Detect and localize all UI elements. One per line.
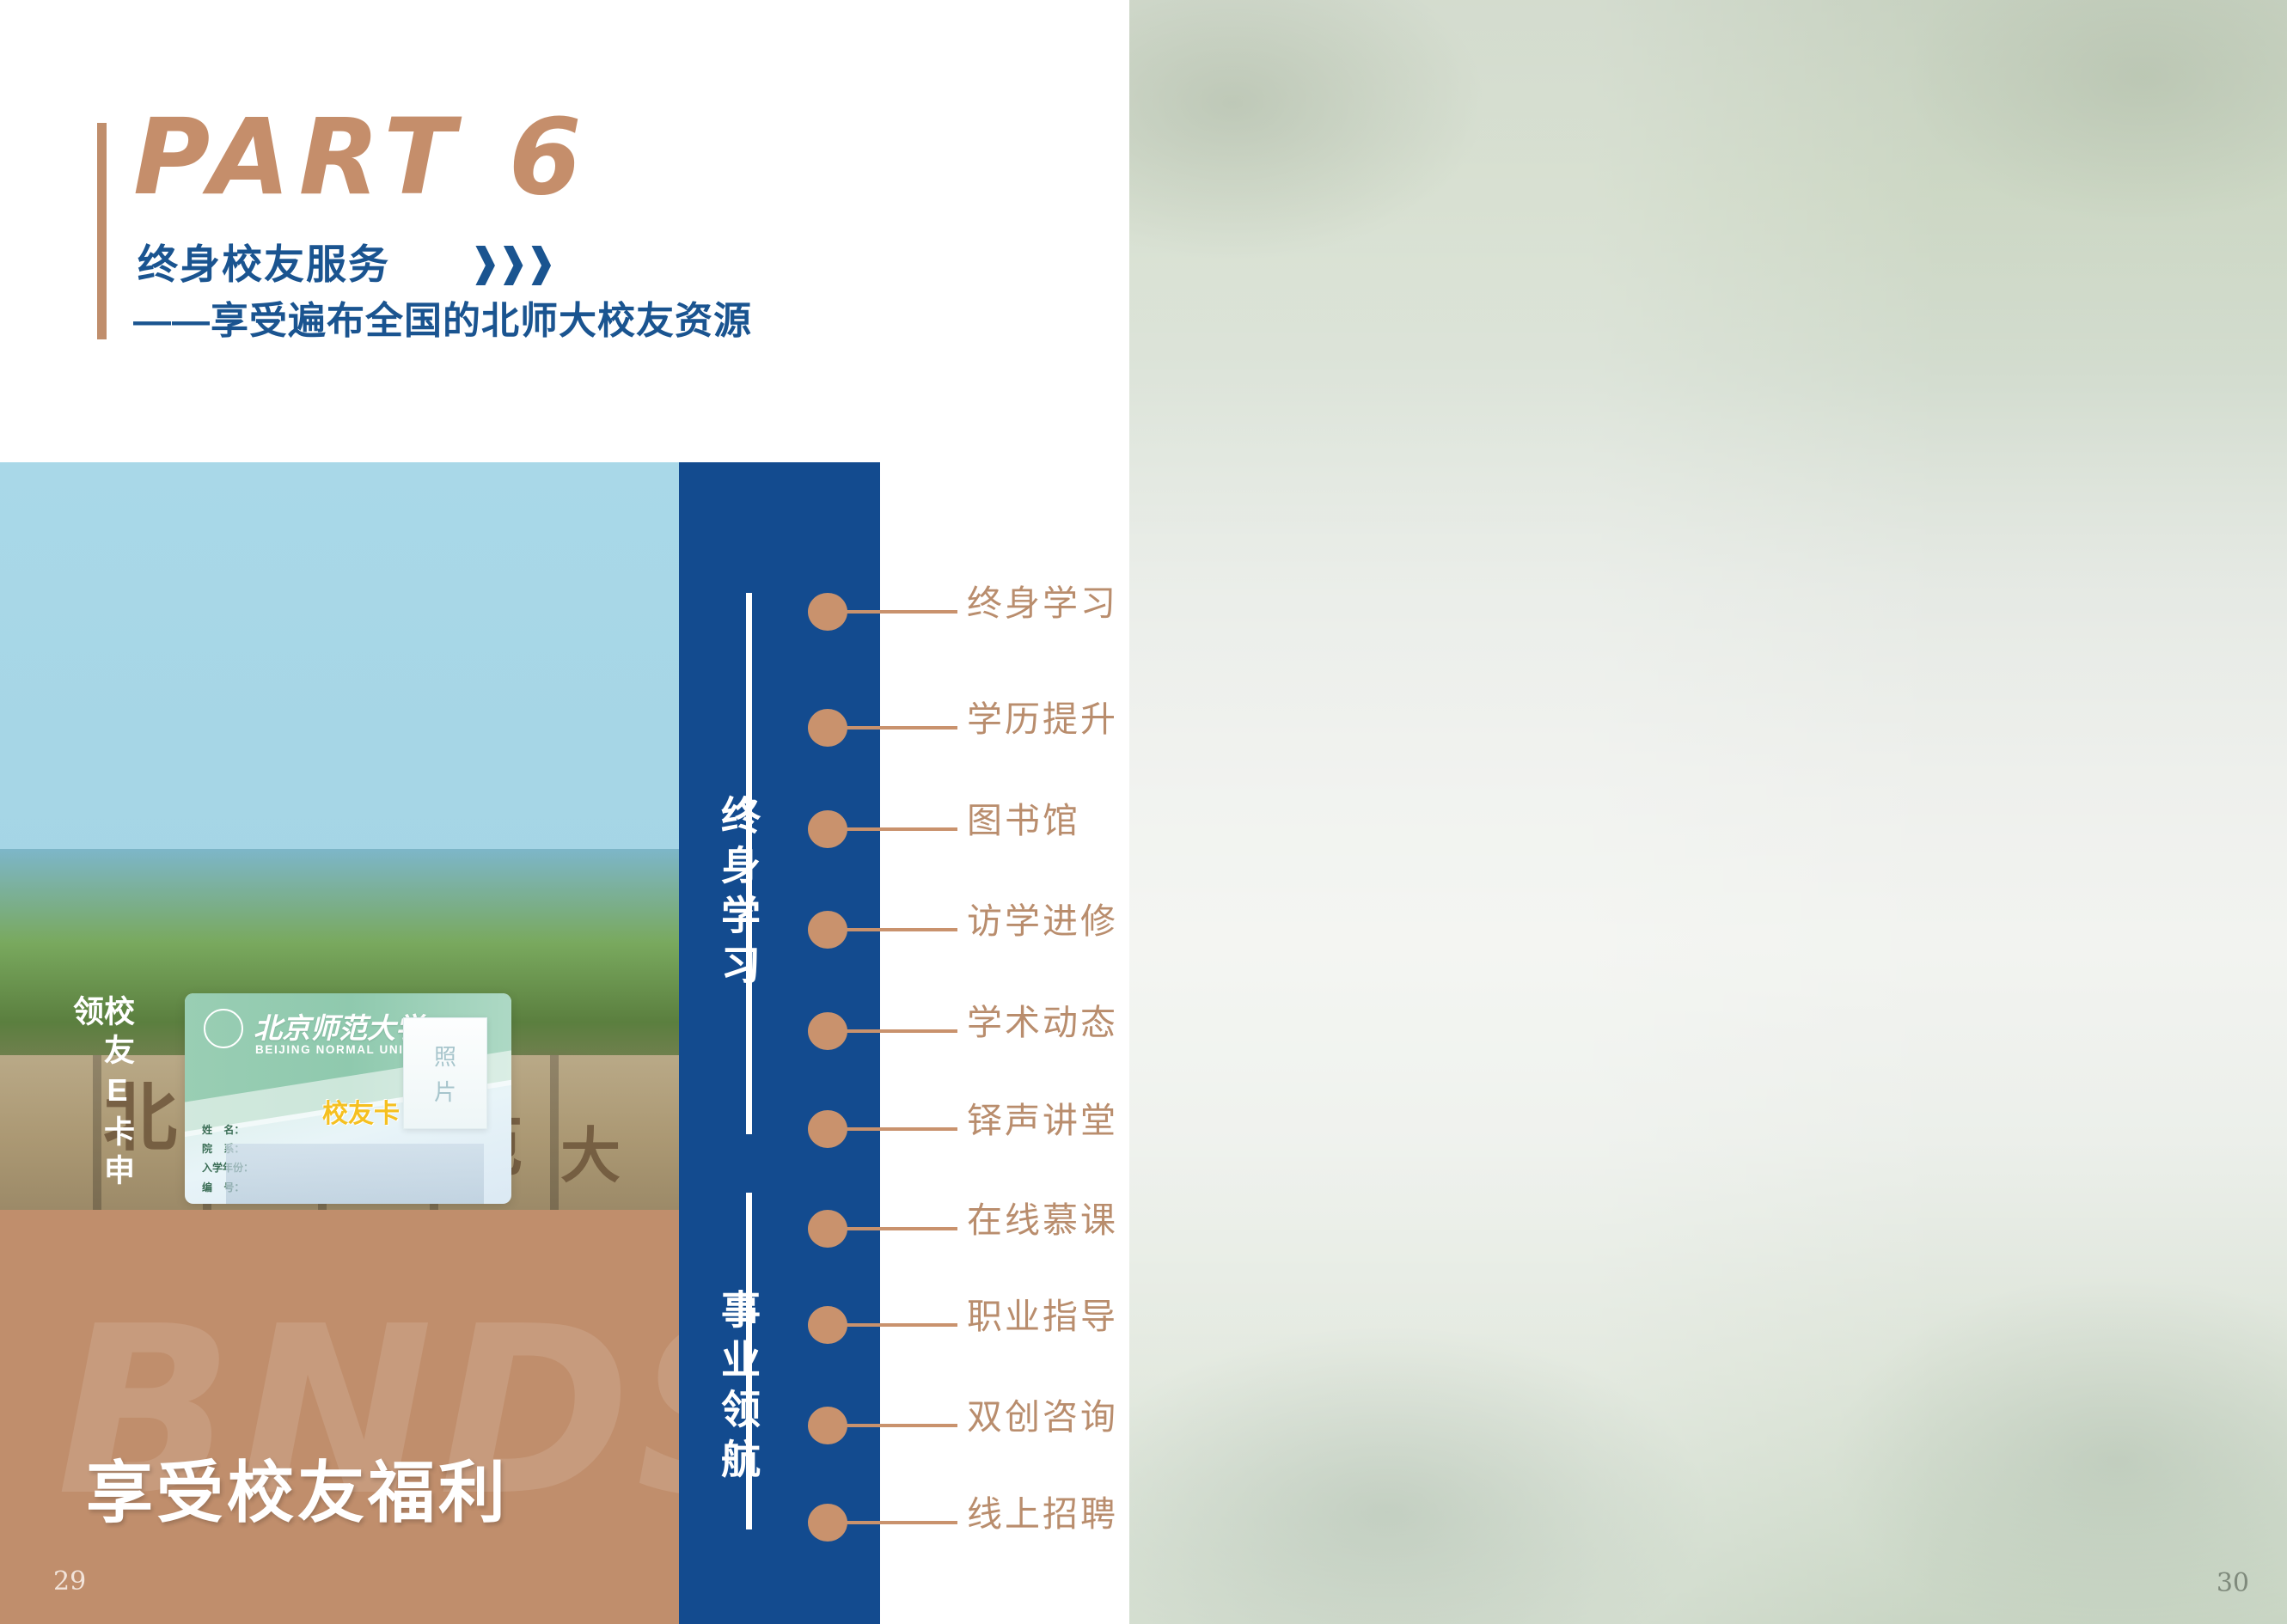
benefit-title: 享受校友福利 <box>86 1459 509 1526</box>
timeline-connector <box>846 1029 957 1033</box>
ecard-building-illustration <box>226 1144 484 1204</box>
timeline-connector <box>846 1521 957 1524</box>
page-number-left: 29 <box>53 1566 86 1597</box>
timeline-dot-icon <box>808 810 847 848</box>
timeline-connector <box>846 928 957 931</box>
timeline-item-label: 终身学习 <box>967 586 1118 621</box>
timeline-dot-icon <box>808 593 847 631</box>
wall-character: 大 <box>560 1108 621 1194</box>
page-number-right: 30 <box>2217 1568 2249 1598</box>
accent-bar <box>97 123 107 339</box>
timeline-dot-icon <box>808 1306 847 1344</box>
ecard-card-tag: 校友卡 <box>322 1092 400 1130</box>
ecard-vertical-label: 校友E卡申领 <box>83 995 132 1210</box>
timeline-group-label-lifelong: 终身学习 <box>698 795 758 994</box>
timeline-item-label: 职业指导 <box>967 1299 1118 1334</box>
photo-placeholder-char-2: 片 <box>434 1075 456 1107</box>
chevron-right-icon: ❱❱❱ <box>468 242 553 282</box>
timeline-dot-icon <box>808 1210 847 1248</box>
photo-placeholder-char-1: 照 <box>434 1040 456 1071</box>
right-page: 北京校区 珠海校区 办理校友E卡后, 可刷身份证入校（注: 海淀校园由东、南、西… <box>1129 0 2287 1624</box>
brochure-spread: PART 6 终身校友服务 ❱❱❱ ——享受遍布全国的北师大校友资源 北 京 师… <box>0 0 2287 1624</box>
timeline-item-label: 双创咨询 <box>967 1400 1118 1435</box>
university-seal-icon <box>204 1009 243 1048</box>
timeline-dot-icon <box>808 1110 847 1148</box>
right-page-overlay <box>1129 0 2287 1624</box>
timeline-dot-icon <box>808 709 847 747</box>
timeline-item-label: 访学进修 <box>967 904 1118 939</box>
timeline-connector <box>846 827 957 831</box>
timeline-rail-gap <box>744 1134 754 1193</box>
timeline-connector <box>846 1323 957 1327</box>
timeline-connector <box>846 726 957 730</box>
benefit-block: BNDS 享受校友福利 29 <box>0 1210 679 1624</box>
timeline-item-label: 图书馆 <box>967 803 1080 839</box>
timeline-item-label: 铎声讲堂 <box>967 1103 1118 1139</box>
left-page-header: PART 6 终身校友服务 ❱❱❱ ——享受遍布全国的北师大校友资源 <box>0 0 1129 462</box>
left-page: PART 6 终身校友服务 ❱❱❱ ——享受遍布全国的北师大校友资源 北 京 师… <box>0 0 1129 1624</box>
timeline-dot-icon <box>808 1407 847 1444</box>
timeline-connector <box>846 610 957 614</box>
section-title: 终身校友服务 <box>138 244 390 284</box>
timeline-connector <box>846 1127 957 1131</box>
timeline-connector <box>846 1424 957 1427</box>
timeline-connector <box>846 1227 957 1230</box>
timeline-item-label: 学术动态 <box>967 1005 1118 1041</box>
timeline-dot-icon <box>808 1012 847 1050</box>
timeline-item-label: 线上招聘 <box>967 1497 1118 1532</box>
timeline-item-label: 学历提升 <box>967 702 1118 737</box>
timeline-item-label: 在线慕课 <box>967 1203 1118 1238</box>
ecard-photo-placeholder: 照 片 <box>403 1017 487 1129</box>
timeline-group-label-career: 事业领航 <box>698 1289 758 1488</box>
campus-photo-area: 北 京 师 范 大 北京师范大学 BEIJING NORMAL UNIVERSI… <box>0 462 679 1210</box>
ecard-university-cn: 北京师范大学 <box>254 1005 424 1047</box>
timeline-dot-icon <box>808 911 847 949</box>
part-title: PART 6 <box>133 105 590 210</box>
timeline-dot-icon <box>808 1504 847 1542</box>
alumni-ecard-image: 北京师范大学 BEIJING NORMAL UNIVERSITY 校友卡 照 片… <box>185 993 511 1204</box>
section-subtitle: ——享受遍布全国的北师大校友资源 <box>133 302 752 340</box>
